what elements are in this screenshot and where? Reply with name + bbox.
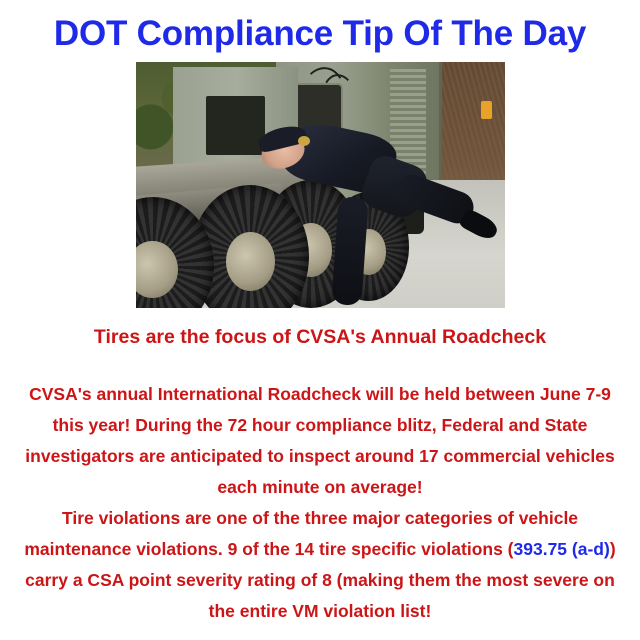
page-title: DOT Compliance Tip Of The Day [0,13,640,55]
subtitle: Tires are the focus of CVSA's Annual Roa… [0,324,640,350]
inspection-photo [136,62,505,308]
paragraph-tire-violations-text-before: Tire violations are one of the three maj… [24,508,578,559]
photo-tire-hub-1 [136,241,178,299]
regulation-393-75-link[interactable]: 393.75 (a-d) [514,539,610,559]
photo-canvas [136,62,505,308]
photo-tire-hub-2 [226,232,276,292]
paragraph-tire-violations: Tire violations are one of the three maj… [20,503,620,627]
photo-truck-cab-window [206,96,265,155]
photo-amber-marker-light [481,101,492,118]
paragraph-roadcheck-dates: CVSA's annual International Roadcheck wi… [20,379,620,503]
tip-of-the-day-graphic: DOT Compliance Tip Of The Day [0,0,640,640]
